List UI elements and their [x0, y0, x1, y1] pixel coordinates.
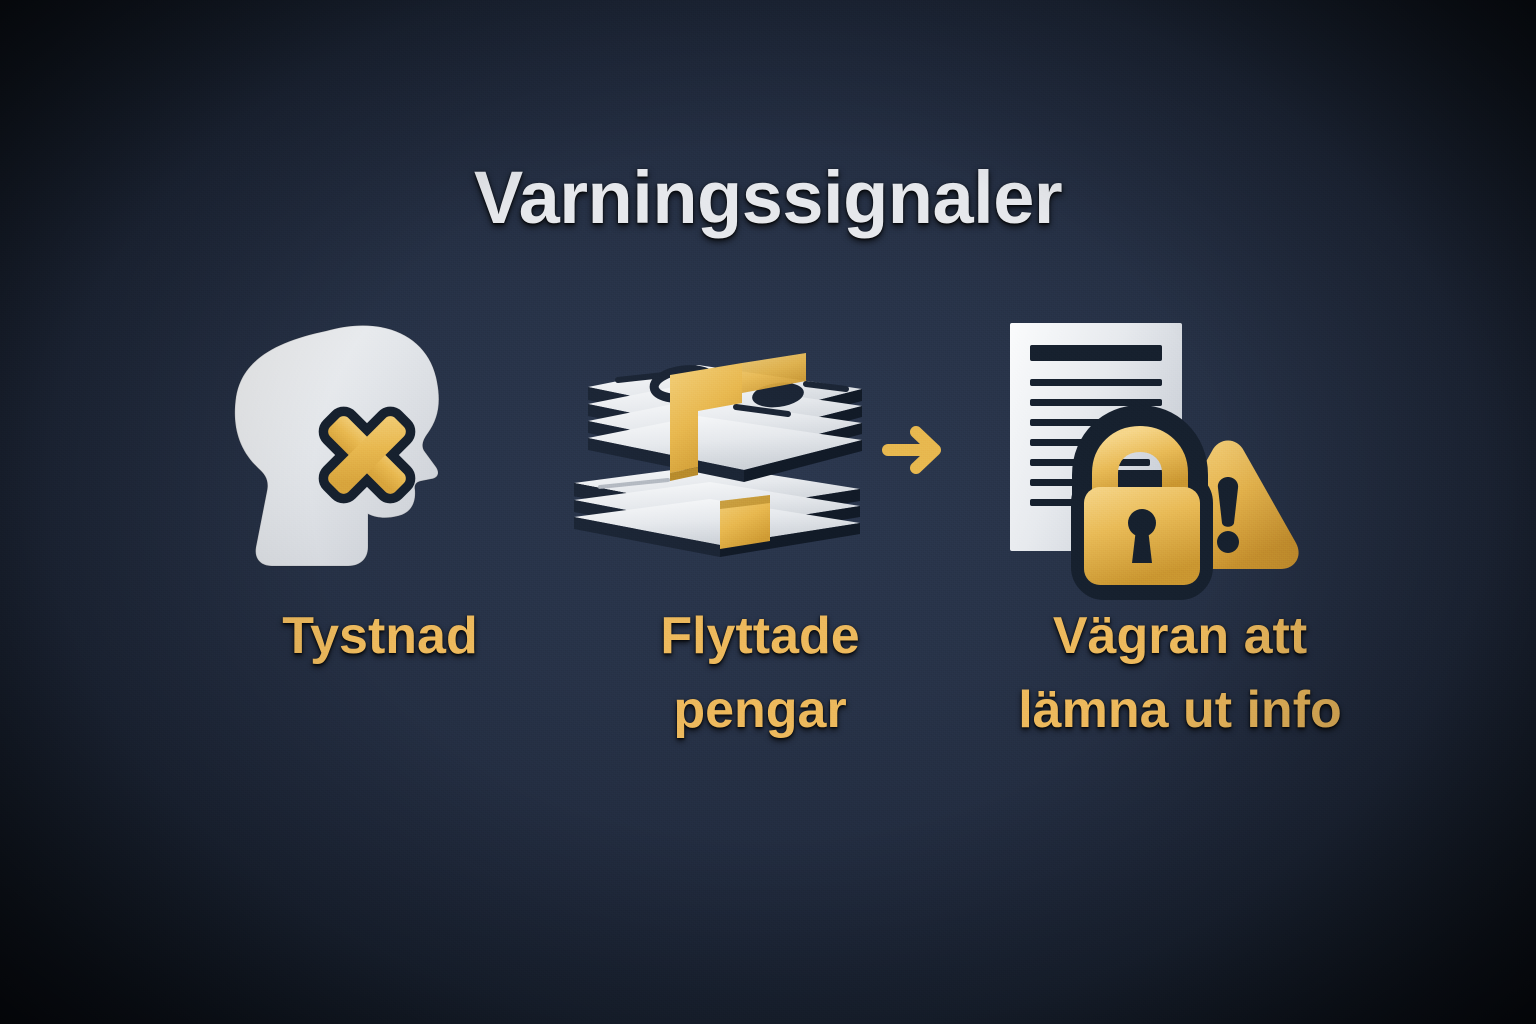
label-silence: Tystnad [180, 600, 580, 674]
label-moved-money: Flyttade pengar [560, 600, 960, 748]
banknote-stack-lower [574, 465, 860, 557]
gold-padlock-icon [1084, 423, 1200, 587]
locked-document-with-warning-icon [1000, 315, 1360, 580]
document-header-bar [1030, 345, 1162, 361]
page-title: Varningssignaler [0, 155, 1536, 240]
icon-silence-group [230, 315, 530, 580]
label-refusal: Vägran att lämna ut info [960, 600, 1400, 748]
banknote-stack-upper [588, 353, 862, 482]
head-profile-with-x-over-mouth-icon [230, 315, 530, 580]
icon-refusal-group [1000, 315, 1360, 580]
slide-canvas: Varningssignaler [0, 0, 1536, 1024]
right-arrow-icon [880, 415, 950, 485]
gold-currency-band [720, 495, 770, 549]
